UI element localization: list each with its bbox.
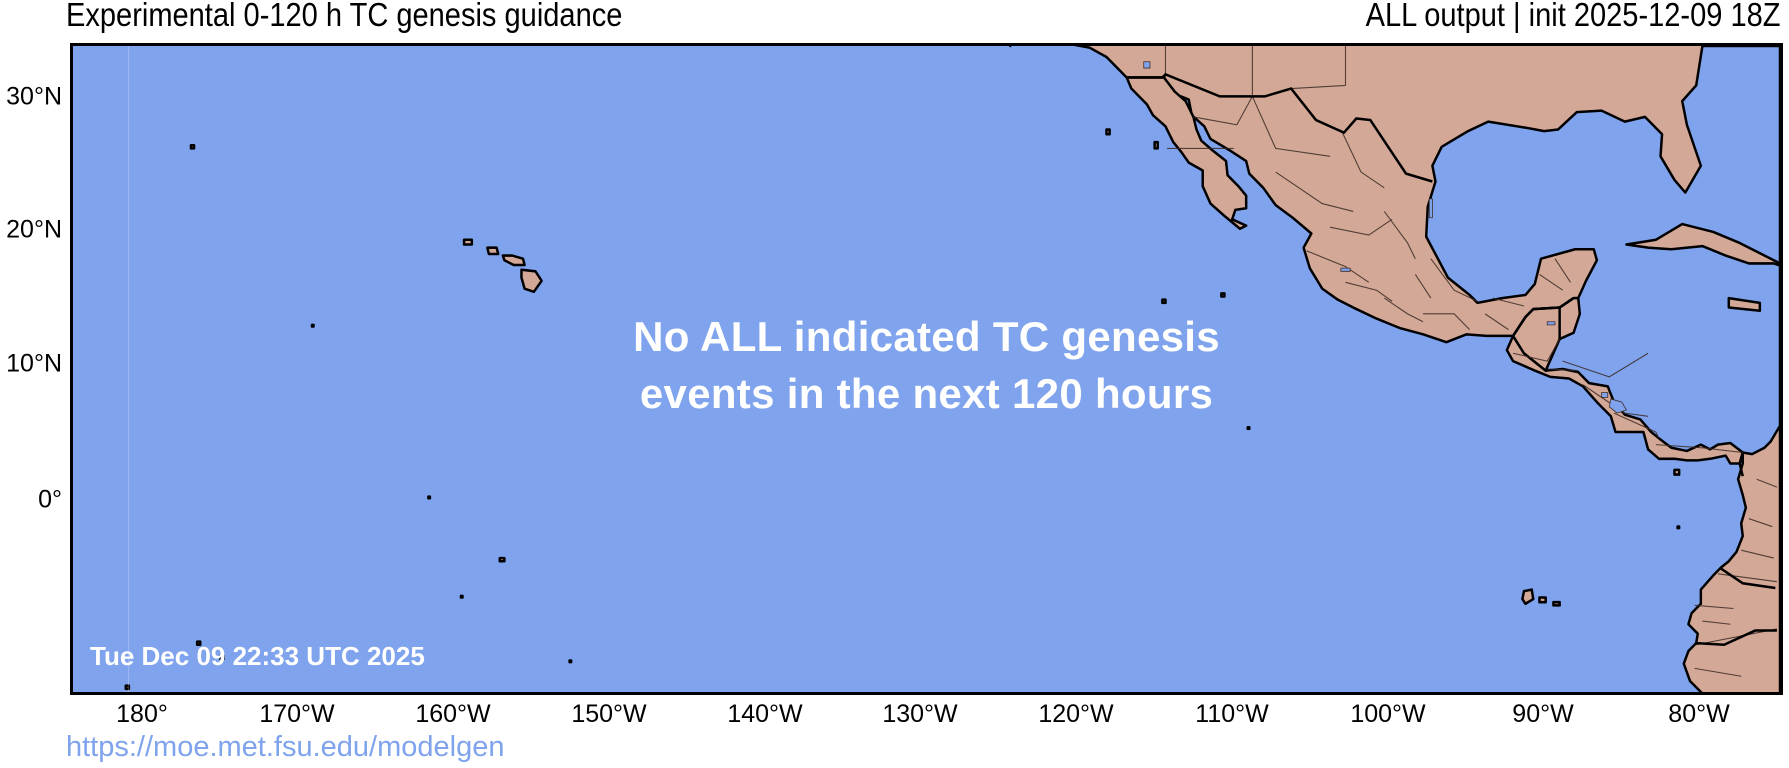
land-clipperton (1248, 427, 1250, 429)
land-isla-guadalupe (1107, 130, 1110, 135)
page-subtitle: ALL output | init 2025-12-09 18Z (1366, 0, 1781, 34)
land-cuba (1626, 224, 1780, 270)
basemap-svg (73, 46, 1780, 692)
land-palmyra (428, 497, 430, 499)
xtick-label: 170°W (259, 700, 334, 729)
figure-root: Experimental 0-120 h TC genesis guidance… (0, 0, 1789, 768)
ytick-label: 0° (38, 486, 62, 515)
xtick-label: 80°W (1668, 700, 1729, 729)
land-galapagos-isabela (1522, 590, 1533, 604)
ytick-label: 30°N (6, 83, 62, 112)
water-lake-peten (1547, 322, 1555, 325)
xtick-label: 130°W (882, 700, 957, 729)
water-lake-managua (1602, 393, 1608, 398)
xtick-label: 100°W (1350, 700, 1425, 729)
page-title: Experimental 0-120 h TC genesis guidance (66, 0, 622, 34)
land-kauai (464, 240, 472, 245)
land-isla-socorro (1221, 293, 1224, 296)
land-oahu (487, 248, 498, 254)
land-jarvis (461, 596, 463, 598)
land-kiritimati (500, 558, 505, 561)
land-jamaica (1729, 298, 1760, 311)
timestamp-label: Tue Dec 09 22:33 UTC 2025 (90, 641, 425, 672)
land-maui (503, 256, 525, 265)
land-hawaii-big-island (521, 270, 541, 292)
xtick-label: 180° (116, 700, 168, 729)
ytick-label: 20°N (6, 216, 62, 245)
land-tuamotu (570, 660, 572, 662)
land-revillagigedo (1162, 300, 1165, 303)
land-midway (191, 145, 194, 148)
land-galapagos-sancristobal (1553, 602, 1559, 605)
land-isla-cedros (1155, 142, 1158, 148)
xtick-label: 90°W (1512, 700, 1573, 729)
xtick-label: 150°W (571, 700, 646, 729)
land-south-america (1684, 46, 1780, 692)
land-malpelo (1678, 527, 1680, 529)
land-north-america (1010, 46, 1780, 342)
ytick-label: 10°N (6, 350, 62, 379)
source-url-link[interactable]: https://moe.met.fsu.edu/modelgen (66, 731, 504, 764)
map-plot-area[interactable]: No ALL indicated TC genesis events in th… (70, 43, 1783, 695)
xtick-label: 110°W (1195, 700, 1268, 729)
xtick-label: 160°W (415, 700, 490, 729)
water-laguna-madre (1429, 199, 1432, 218)
water-lake-chapala (1341, 268, 1350, 271)
land-coiba (1674, 470, 1679, 475)
water-salton-sea (1144, 62, 1150, 68)
xtick-label: 140°W (727, 700, 802, 729)
graticule-line (128, 46, 129, 692)
xtick-label: 120°W (1038, 700, 1113, 729)
land-galapagos-santacruz (1539, 597, 1545, 602)
land-johnston-atoll (312, 325, 314, 327)
